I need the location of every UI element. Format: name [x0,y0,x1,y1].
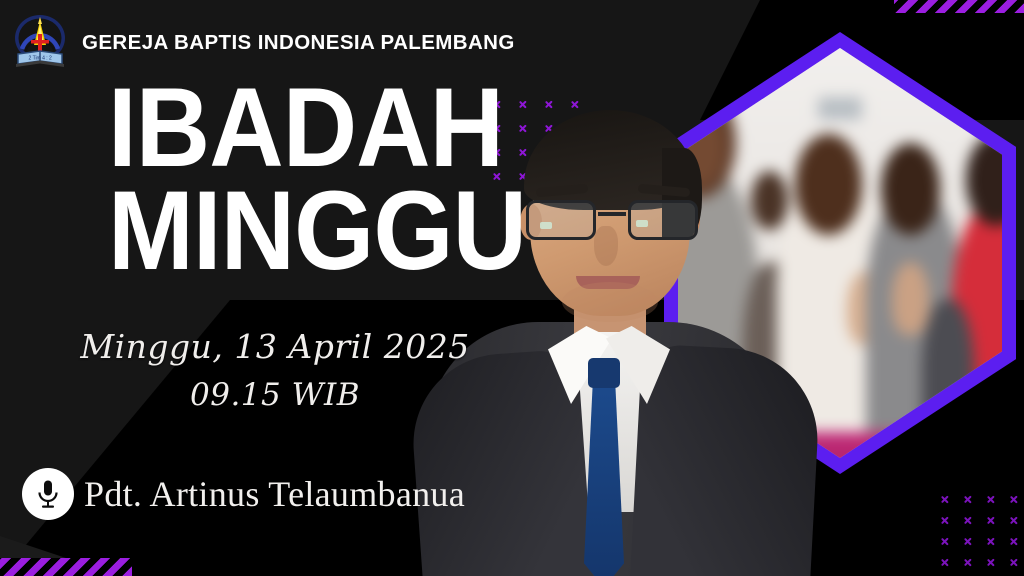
x-mark-icon [986,537,995,546]
x-mark-icon [963,516,972,525]
x-mark-icon [940,516,949,525]
stripes-top-right [894,0,1024,13]
poster-canvas: 2 Tim 4 : 2 GEREJA BAPTIS INDONESIA PALE… [0,0,1024,576]
schedule-block: Minggu, 13 April 2025 09.15 WIB [80,322,470,418]
x-mark-icon [963,558,972,567]
x-mark-icon [1009,537,1018,546]
portrait-chin [562,282,658,322]
church-logo-icon: 2 Tim 4 : 2 [12,12,68,74]
stripes-bottom-left [0,558,132,576]
microphone-glyph [35,479,61,509]
service-time: 09.15 WIB [80,372,470,419]
title-line-2: MINGGU [108,179,526,282]
x-mark-icon [1009,558,1018,567]
x-mark-icon [986,495,995,504]
x-mark-icon [963,537,972,546]
speaker-row: Pdt. Artinus Telaumbanua [22,468,465,520]
x-mark-icon [1009,495,1018,504]
x-mark-cluster-bottom-right [940,495,1024,576]
x-mark-icon [940,558,949,567]
portrait-tie-knot [588,358,620,388]
church-name: GEREJA BAPTIS INDONESIA PALEMBANG [82,31,515,55]
photo-wall-sign [818,97,863,120]
x-mark-icon [940,495,949,504]
x-mark-icon [1009,516,1018,525]
x-mark-icon [940,537,949,546]
x-mark-icon [963,495,972,504]
x-mark-icon [986,516,995,525]
speaker-name: Pdt. Artinus Telaumbanua [84,473,465,515]
service-date: Minggu, 13 April 2025 [80,322,470,372]
microphone-icon [22,468,74,520]
page-title: IBADAH MINGGU [108,76,562,282]
x-mark-icon [986,558,995,567]
title-line-1: IBADAH [108,76,526,179]
